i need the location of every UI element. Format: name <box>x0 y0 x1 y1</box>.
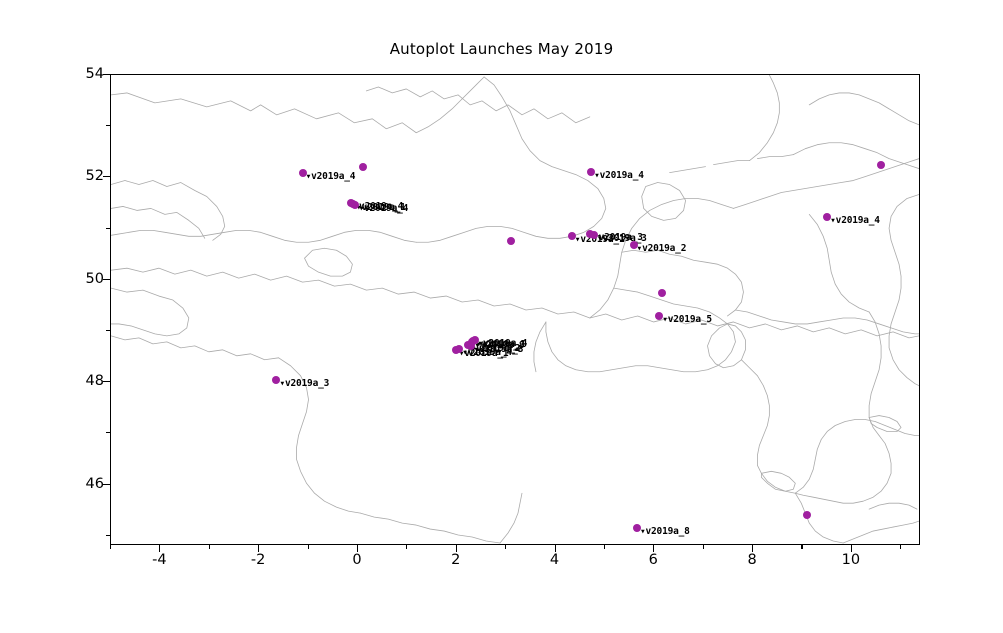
x-tick-major <box>357 545 358 552</box>
y-axis-tick-labels: 4648505254 <box>58 74 104 545</box>
y-axis-ticks <box>103 74 110 545</box>
x-tick-label: 6 <box>630 552 676 568</box>
x-tick-label: 2 <box>433 552 479 568</box>
x-tick-minor <box>801 545 802 549</box>
x-tick-minor <box>900 545 901 549</box>
x-tick-minor <box>308 545 309 549</box>
y-tick-major <box>103 484 110 485</box>
x-tick-major <box>456 545 457 552</box>
map-plot-area[interactable]: ▾v2019a_4▾v2019a_4▾v2019a_1▾v2019a_4▾v20… <box>110 74 920 545</box>
y-tick-major <box>103 176 110 177</box>
basemap-coastlines <box>111 75 919 544</box>
y-tick-major <box>103 279 110 280</box>
x-tick-minor <box>604 545 605 549</box>
y-tick-label: 52 <box>60 168 104 184</box>
x-tick-major <box>555 545 556 552</box>
page-title: Autoplot Launches May 2019 <box>0 40 1003 58</box>
x-tick-label: 8 <box>729 552 775 568</box>
x-axis-tick-labels: -4-20246810 <box>110 552 920 576</box>
x-tick-label: 4 <box>532 552 578 568</box>
x-tick-minor <box>406 545 407 549</box>
y-tick-label: 54 <box>60 66 104 82</box>
y-tick-label: 50 <box>60 271 104 287</box>
y-tick-major <box>103 381 110 382</box>
x-tick-label: 10 <box>828 552 874 568</box>
y-tick-major <box>103 74 110 75</box>
x-tick-major <box>752 545 753 552</box>
x-tick-major <box>851 545 852 552</box>
x-tick-major <box>159 545 160 552</box>
x-tick-label: 0 <box>334 552 380 568</box>
x-tick-major <box>653 545 654 552</box>
x-tick-major <box>258 545 259 552</box>
y-tick-label: 48 <box>60 373 104 389</box>
x-tick-minor <box>209 545 210 549</box>
x-tick-minor <box>505 545 506 549</box>
figure-canvas: Autoplot Launches May 2019 4648505254 -4… <box>0 0 1003 633</box>
x-tick-label: -2 <box>235 552 281 568</box>
x-tick-minor <box>703 545 704 549</box>
x-tick-label: -4 <box>136 552 182 568</box>
y-tick-label: 46 <box>60 476 104 492</box>
x-tick-minor <box>110 545 111 549</box>
x-axis-ticks <box>110 545 920 552</box>
